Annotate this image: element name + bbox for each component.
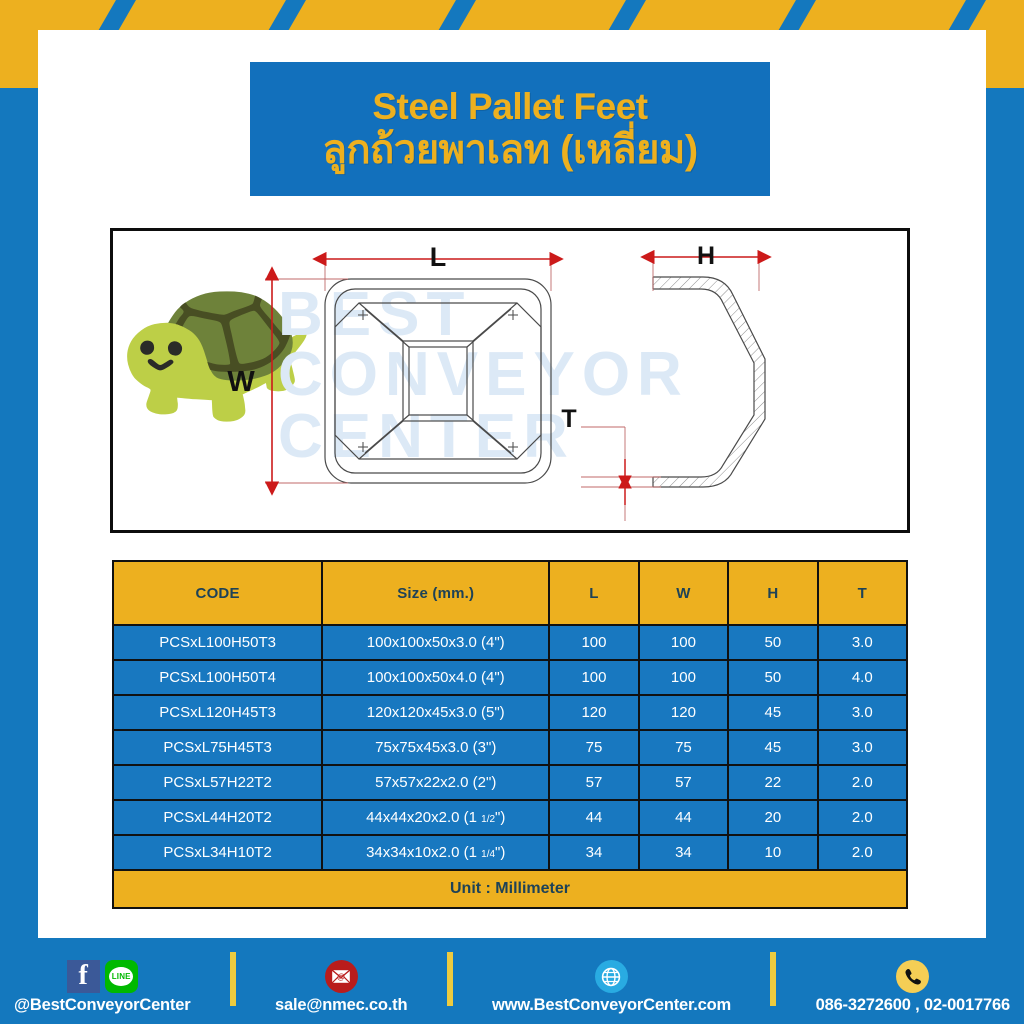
footer-social-group[interactable]: f LINE @BestConveyorCenter [14, 943, 190, 1015]
facebook-handle: @BestConveyorCenter [14, 996, 190, 1015]
table-header-row: CODE Size (mm.) L W H T [114, 562, 906, 624]
cell-w: 75 [640, 731, 727, 764]
cell-w: 120 [640, 696, 727, 729]
cell-code: PCSxL34H10T2 [114, 836, 321, 869]
email-icon[interactable]: @ [325, 960, 358, 993]
cell-t: 3.0 [819, 731, 906, 764]
cell-size: 34x34x10x2.0 (1 1/4") [323, 836, 548, 869]
cell-t: 4.0 [819, 661, 906, 694]
table-row: PCSxL120H45T3120x120x45x3.0 (5")12012045… [114, 696, 906, 729]
facebook-icon[interactable]: f [67, 960, 100, 993]
cell-size: 44x44x20x2.0 (1 1/2") [323, 801, 548, 834]
table-row: PCSxL44H20T244x44x20x2.0 (1 1/2")4444202… [114, 801, 906, 834]
line-icon[interactable]: LINE [105, 960, 138, 993]
phone-icon-wrap [896, 960, 929, 993]
cell-l: 57 [550, 766, 637, 799]
table-row: PCSxL57H22T257x57x22x2.0 (2")5757222.0 [114, 766, 906, 799]
cell-code: PCSxL100H50T4 [114, 661, 321, 694]
cell-h: 45 [729, 696, 816, 729]
globe-icon-wrap [595, 960, 628, 993]
cell-h: 45 [729, 731, 816, 764]
cell-t: 2.0 [819, 836, 906, 869]
cell-code: PCSxL100H50T3 [114, 626, 321, 659]
cell-t: 2.0 [819, 766, 906, 799]
svg-text:@: @ [337, 973, 345, 982]
page-title-english: Steel Pallet Feet [372, 88, 647, 127]
cell-w: 57 [640, 766, 727, 799]
cell-h: 10 [729, 836, 816, 869]
cell-l: 100 [550, 626, 637, 659]
cell-w: 100 [640, 661, 727, 694]
cell-h: 50 [729, 626, 816, 659]
cell-w: 100 [640, 626, 727, 659]
cell-size: 57x57x22x2.0 (2") [323, 766, 548, 799]
cell-code: PCSxL44H20T2 [114, 801, 321, 834]
cell-h: 50 [729, 661, 816, 694]
table-row: PCSxL75H45T375x75x45x3.0 (3")7575453.0 [114, 731, 906, 764]
email-icon-wrap: @ [325, 960, 358, 993]
cell-size: 100x100x50x4.0 (4") [323, 661, 548, 694]
column-header-w: W [640, 562, 727, 624]
unit-note: Unit : Millimeter [114, 871, 906, 907]
globe-glyph [600, 966, 622, 988]
footer-phone-group[interactable]: 086-3272600 , 02-0017766 [816, 943, 1010, 1015]
cell-size: 120x120x45x3.0 (5") [323, 696, 548, 729]
dimension-label-T: T [561, 405, 576, 433]
title-banner: Steel Pallet Feet ลูกถ้วยพาเลท (เหลี่ยม) [250, 62, 770, 196]
table-footer-row: Unit : Millimeter [114, 871, 906, 907]
phone-numbers: 086-3272600 , 02-0017766 [816, 996, 1010, 1015]
cell-l: 100 [550, 661, 637, 694]
page-title-thai: ลูกถ้วยพาเลท (เหลี่ยม) [322, 128, 697, 172]
cell-size: 100x100x50x3.0 (4") [323, 626, 548, 659]
column-header-t: T [819, 562, 906, 624]
cell-t: 3.0 [819, 626, 906, 659]
envelope-glyph: @ [331, 969, 351, 984]
cell-l: 44 [550, 801, 637, 834]
table-row: PCSxL34H10T234x34x10x2.0 (1 1/4")3434102… [114, 836, 906, 869]
cell-code: PCSxL57H22T2 [114, 766, 321, 799]
footer-divider [447, 952, 453, 1006]
cell-t: 2.0 [819, 801, 906, 834]
phone-glyph [903, 967, 922, 986]
contact-footer: f LINE @BestConveyorCenter @ sale@nmec.c… [0, 938, 1024, 1024]
column-header-size: Size (mm.) [323, 562, 548, 624]
cell-h: 22 [729, 766, 816, 799]
phone-icon[interactable] [896, 960, 929, 993]
cell-code: PCSxL75H45T3 [114, 731, 321, 764]
email-address: sale@nmec.co.th [275, 996, 407, 1015]
technical-drawing-panel: 🐢 BEST CONVEYOR CENTER [110, 228, 910, 533]
column-header-code: CODE [114, 562, 321, 624]
cell-size: 75x75x45x3.0 (3") [323, 731, 548, 764]
cell-code: PCSxL120H45T3 [114, 696, 321, 729]
cell-l: 34 [550, 836, 637, 869]
cell-h: 20 [729, 801, 816, 834]
table-row: PCSxL100H50T4100x100x50x4.0 (4")10010050… [114, 661, 906, 694]
social-icons: f LINE [67, 960, 138, 993]
dimension-label-W: W [227, 366, 255, 398]
pallet-foot-drawing: L W H [113, 231, 907, 530]
cell-w: 34 [640, 836, 727, 869]
line-label: LINE [109, 967, 133, 986]
column-header-l: L [550, 562, 637, 624]
globe-icon[interactable] [595, 960, 628, 993]
footer-email-group[interactable]: @ sale@nmec.co.th [275, 943, 407, 1015]
website-url: www.BestConveyorCenter.com [492, 996, 731, 1015]
footer-divider [230, 952, 236, 1006]
cell-l: 120 [550, 696, 637, 729]
cell-l: 75 [550, 731, 637, 764]
footer-divider [770, 952, 776, 1006]
table-row: PCSxL100H50T3100x100x50x3.0 (4")10010050… [114, 626, 906, 659]
footer-website-group[interactable]: www.BestConveyorCenter.com [492, 943, 731, 1015]
cell-w: 44 [640, 801, 727, 834]
column-header-h: H [729, 562, 816, 624]
specification-table: CODE Size (mm.) L W H T PCSxL100H50T3100… [112, 560, 908, 909]
dimension-label-H: H [697, 242, 715, 270]
cell-t: 3.0 [819, 696, 906, 729]
dimension-label-L: L [430, 242, 447, 272]
